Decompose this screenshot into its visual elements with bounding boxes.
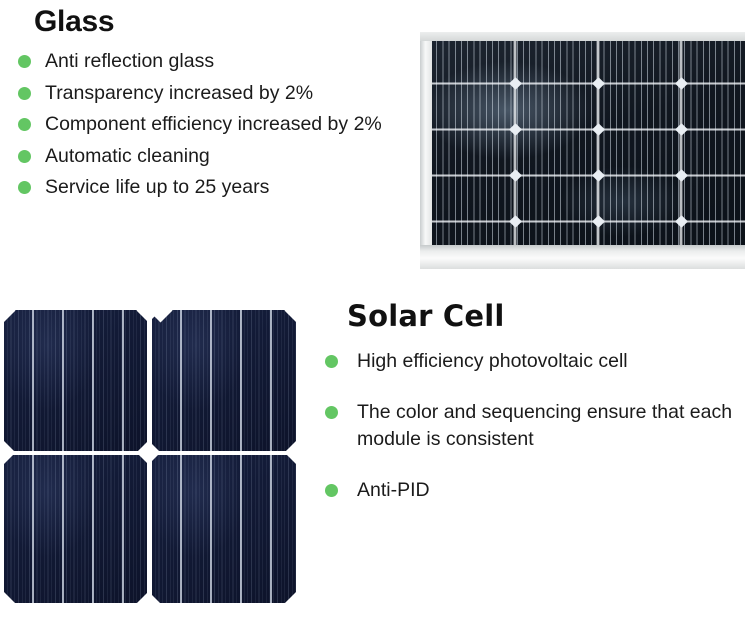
pv-cell bbox=[152, 310, 296, 452]
glass-feature-item: Anti reflection glass bbox=[18, 47, 418, 76]
pv-cell bbox=[4, 310, 148, 452]
module-frame-left-rail bbox=[420, 32, 432, 269]
pv-cell bbox=[152, 455, 296, 603]
green-dot-icon bbox=[325, 484, 338, 497]
green-dot-icon bbox=[18, 55, 31, 68]
module-frame-bottom-rail bbox=[420, 245, 745, 269]
solar-cell-section-title: Solar Cell bbox=[325, 298, 740, 334]
pv-cell bbox=[4, 455, 148, 603]
green-dot-icon bbox=[18, 181, 31, 194]
solar-cell-feature-text: Anti-PID bbox=[357, 479, 430, 501]
glass-feature-item: Automatic cleaning bbox=[18, 142, 418, 171]
glass-section-title: Glass bbox=[18, 4, 418, 40]
glass-feature-text: Component efficiency increased by 2% bbox=[45, 113, 382, 135]
solar-module-closeup-photo bbox=[420, 32, 745, 269]
glass-feature-text: Automatic cleaning bbox=[45, 145, 210, 167]
green-dot-icon bbox=[18, 118, 31, 131]
green-dot-icon bbox=[325, 355, 338, 368]
green-dot-icon bbox=[325, 406, 338, 419]
green-dot-icon bbox=[18, 87, 31, 100]
glass-feature-item: Service life up to 25 years bbox=[18, 173, 418, 202]
solar-cell-feature-item: High efficiency photovoltaic cell bbox=[325, 348, 740, 375]
module-finger-lines bbox=[431, 40, 745, 247]
solar-cell-feature-item: Anti-PID bbox=[325, 477, 740, 504]
module-row-divider bbox=[431, 174, 745, 177]
module-frame-top-rail bbox=[420, 32, 745, 41]
solar-cell-feature-list: High efficiency photovoltaic cell The co… bbox=[325, 348, 740, 504]
glass-feature-text: Service life up to 25 years bbox=[45, 176, 269, 198]
solar-cell-feature-text: High efficiency photovoltaic cell bbox=[357, 350, 628, 372]
solar-cells-photo bbox=[0, 300, 298, 613]
glass-feature-list: Anti reflection glass Transparency incre… bbox=[18, 47, 418, 202]
glass-feature-item: Component efficiency increased by 2% bbox=[18, 110, 418, 139]
glass-feature-section: Glass Anti reflection glass Transparency… bbox=[18, 4, 418, 205]
glass-feature-text: Anti reflection glass bbox=[45, 50, 214, 72]
green-dot-icon bbox=[18, 150, 31, 163]
solar-cell-feature-section: Solar Cell High efficiency photovoltaic … bbox=[325, 298, 740, 528]
glass-feature-text: Transparency increased by 2% bbox=[45, 82, 313, 104]
module-row-divider bbox=[431, 220, 745, 223]
solar-cell-feature-text: The color and sequencing ensure that eac… bbox=[357, 401, 732, 450]
module-row-divider bbox=[431, 82, 745, 85]
solar-cell-feature-item: The color and sequencing ensure that eac… bbox=[325, 399, 740, 453]
glass-feature-item: Transparency increased by 2% bbox=[18, 79, 418, 108]
module-row-divider bbox=[431, 128, 745, 131]
module-laminate bbox=[431, 40, 745, 247]
